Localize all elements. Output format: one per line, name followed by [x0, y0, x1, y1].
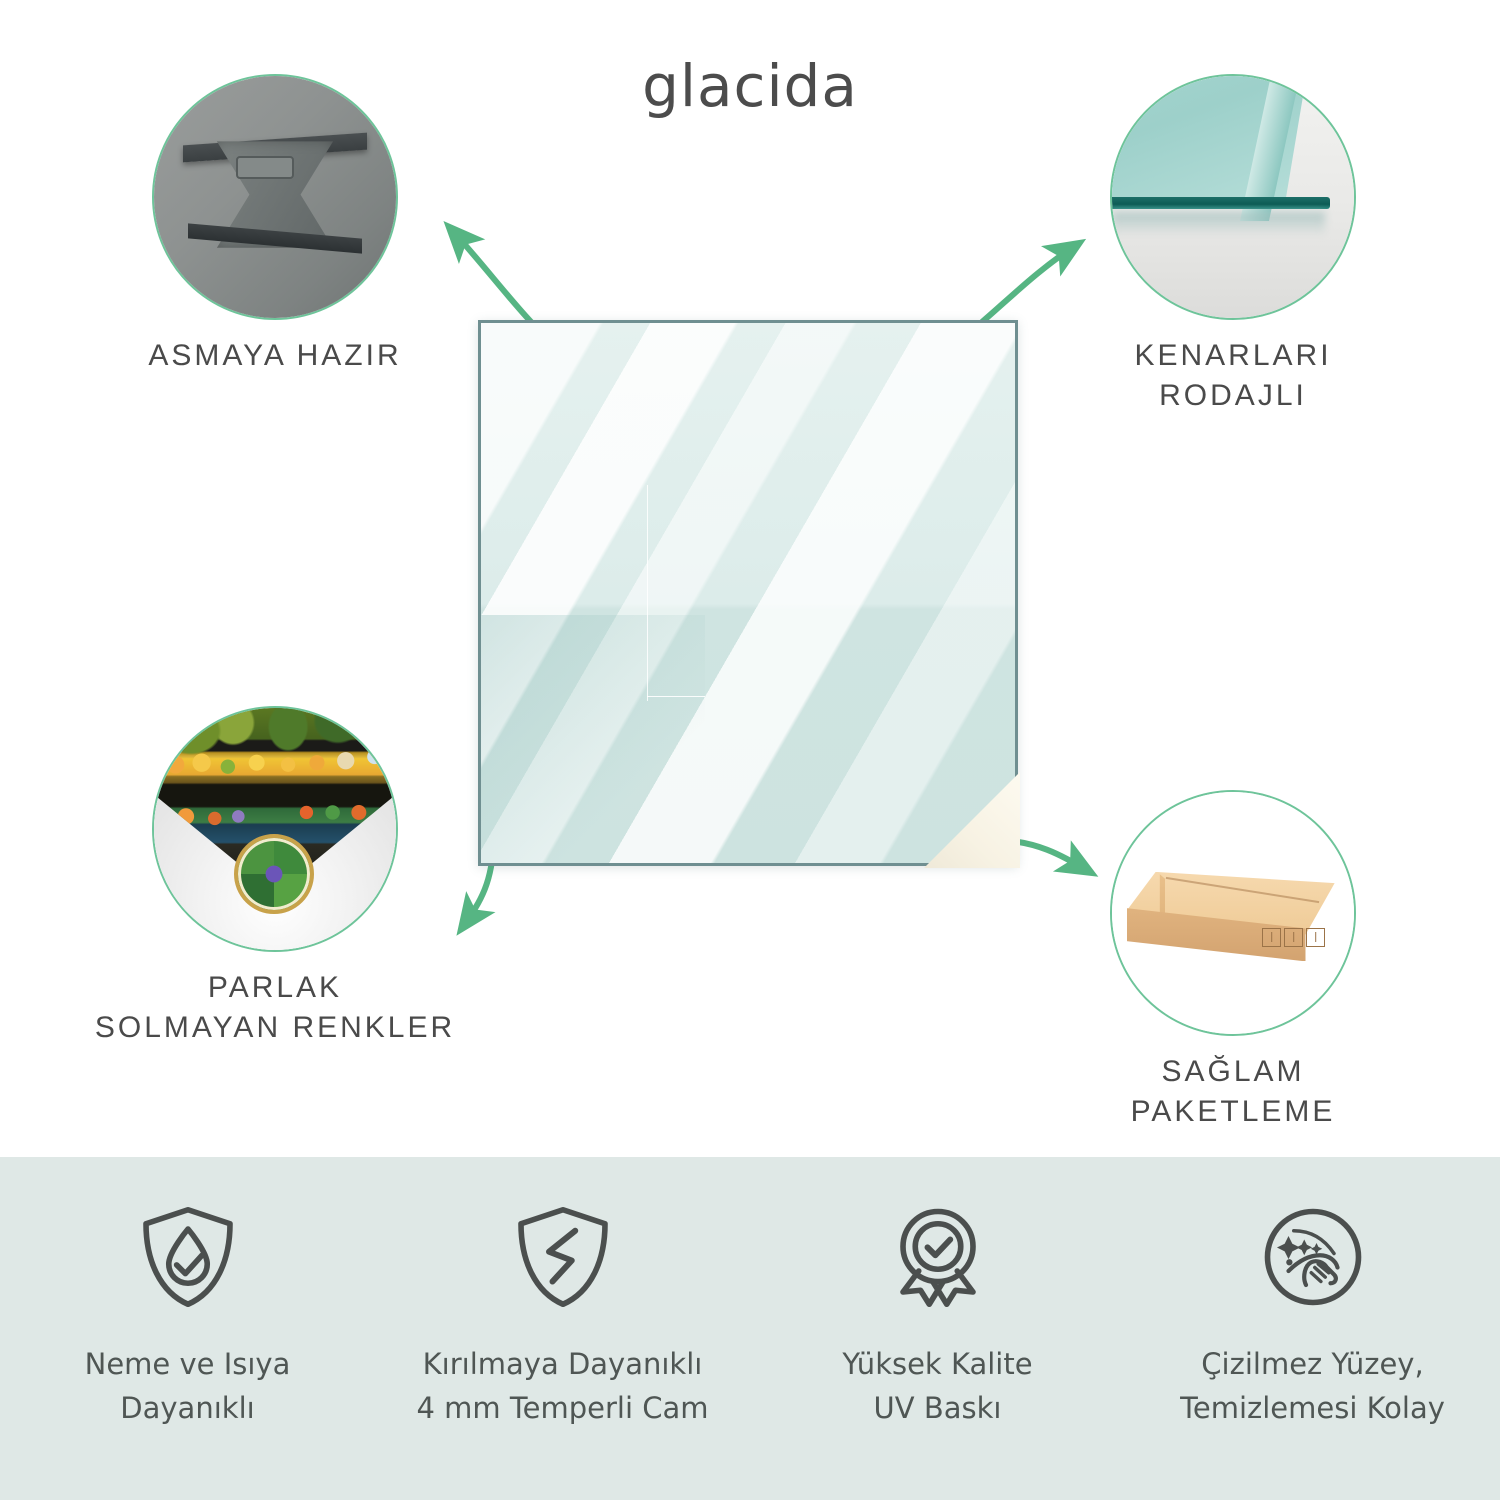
- glass-reflection-line: [647, 485, 648, 701]
- feature-image-circle: [152, 706, 398, 952]
- feature-saglam-paketleme: SAĞLAM PAKETLEME: [1110, 790, 1356, 1036]
- band-label-break-resistant: Kırılmaya Dayanıklı 4 mm Temperli Cam: [416, 1343, 708, 1430]
- glass-surface: [478, 320, 1018, 866]
- wall-mount-bracket-photo: [154, 76, 396, 318]
- band-item-high-quality: Yüksek Kalite UV Baskı: [750, 1157, 1125, 1430]
- band-label-scratch-free: Çizilmez Yüzey, Temizlemesi Kolay: [1180, 1343, 1445, 1430]
- feature-asmaya-hazir: ASMAYA HAZIR: [152, 74, 398, 320]
- arrow-to-asmaya-hazir: [450, 228, 533, 324]
- award-medal-check-icon: [882, 1201, 994, 1313]
- cardboard-box-photo: [1112, 792, 1354, 1034]
- polished-glass-edge-photo: [1112, 76, 1354, 318]
- feature-band: Neme ve Isıya Dayanıklı Kırılmaya Dayanı…: [0, 1157, 1500, 1500]
- feature-label-parlak-solmayan-renkler: PARLAK SOLMAYAN RENKLER: [45, 968, 505, 1047]
- shield-water-drop-check-icon: [132, 1201, 244, 1313]
- stained-glass-mosaic-photo: [154, 708, 396, 950]
- feature-kenarlari-rodajli: KENARLARI RODAJLI: [1110, 74, 1356, 320]
- band-label-high-quality: Yüksek Kalite UV Baskı: [842, 1343, 1032, 1430]
- band-item-scratch-free: Çizilmez Yüzey, Temizlemesi Kolay: [1125, 1157, 1500, 1430]
- feature-image-circle: [152, 74, 398, 320]
- glass-reflection-line-2: [647, 696, 706, 697]
- glass-tint: [481, 615, 705, 863]
- shield-crack-icon: [507, 1201, 619, 1313]
- feature-label-kenarlari-rodajli: KENARLARI RODAJLI: [1003, 336, 1463, 415]
- band-label-moisture-heat: Neme ve Isıya Dayanıklı: [85, 1343, 291, 1430]
- infographic-canvas: glacida ASMAYA HAZIR: [0, 0, 1500, 1500]
- arrow-to-kenarlari-rodajli: [982, 244, 1078, 322]
- feature-image-circle: [1110, 74, 1356, 320]
- feature-label-saglam-paketleme: SAĞLAM PAKETLEME: [1003, 1052, 1463, 1131]
- feature-image-circle: [1110, 790, 1356, 1036]
- feature-parlak-solmayan-renkler: PARLAK SOLMAYAN RENKLER: [152, 706, 398, 952]
- sparkle-wiping-hand-icon: [1257, 1201, 1369, 1313]
- band-item-break-resistant: Kırılmaya Dayanıklı 4 mm Temperli Cam: [375, 1157, 750, 1430]
- product-glass-panel: [478, 320, 1018, 866]
- feature-label-asmaya-hazir: ASMAYA HAZIR: [45, 336, 505, 376]
- band-item-moisture-heat: Neme ve Isıya Dayanıklı: [0, 1157, 375, 1430]
